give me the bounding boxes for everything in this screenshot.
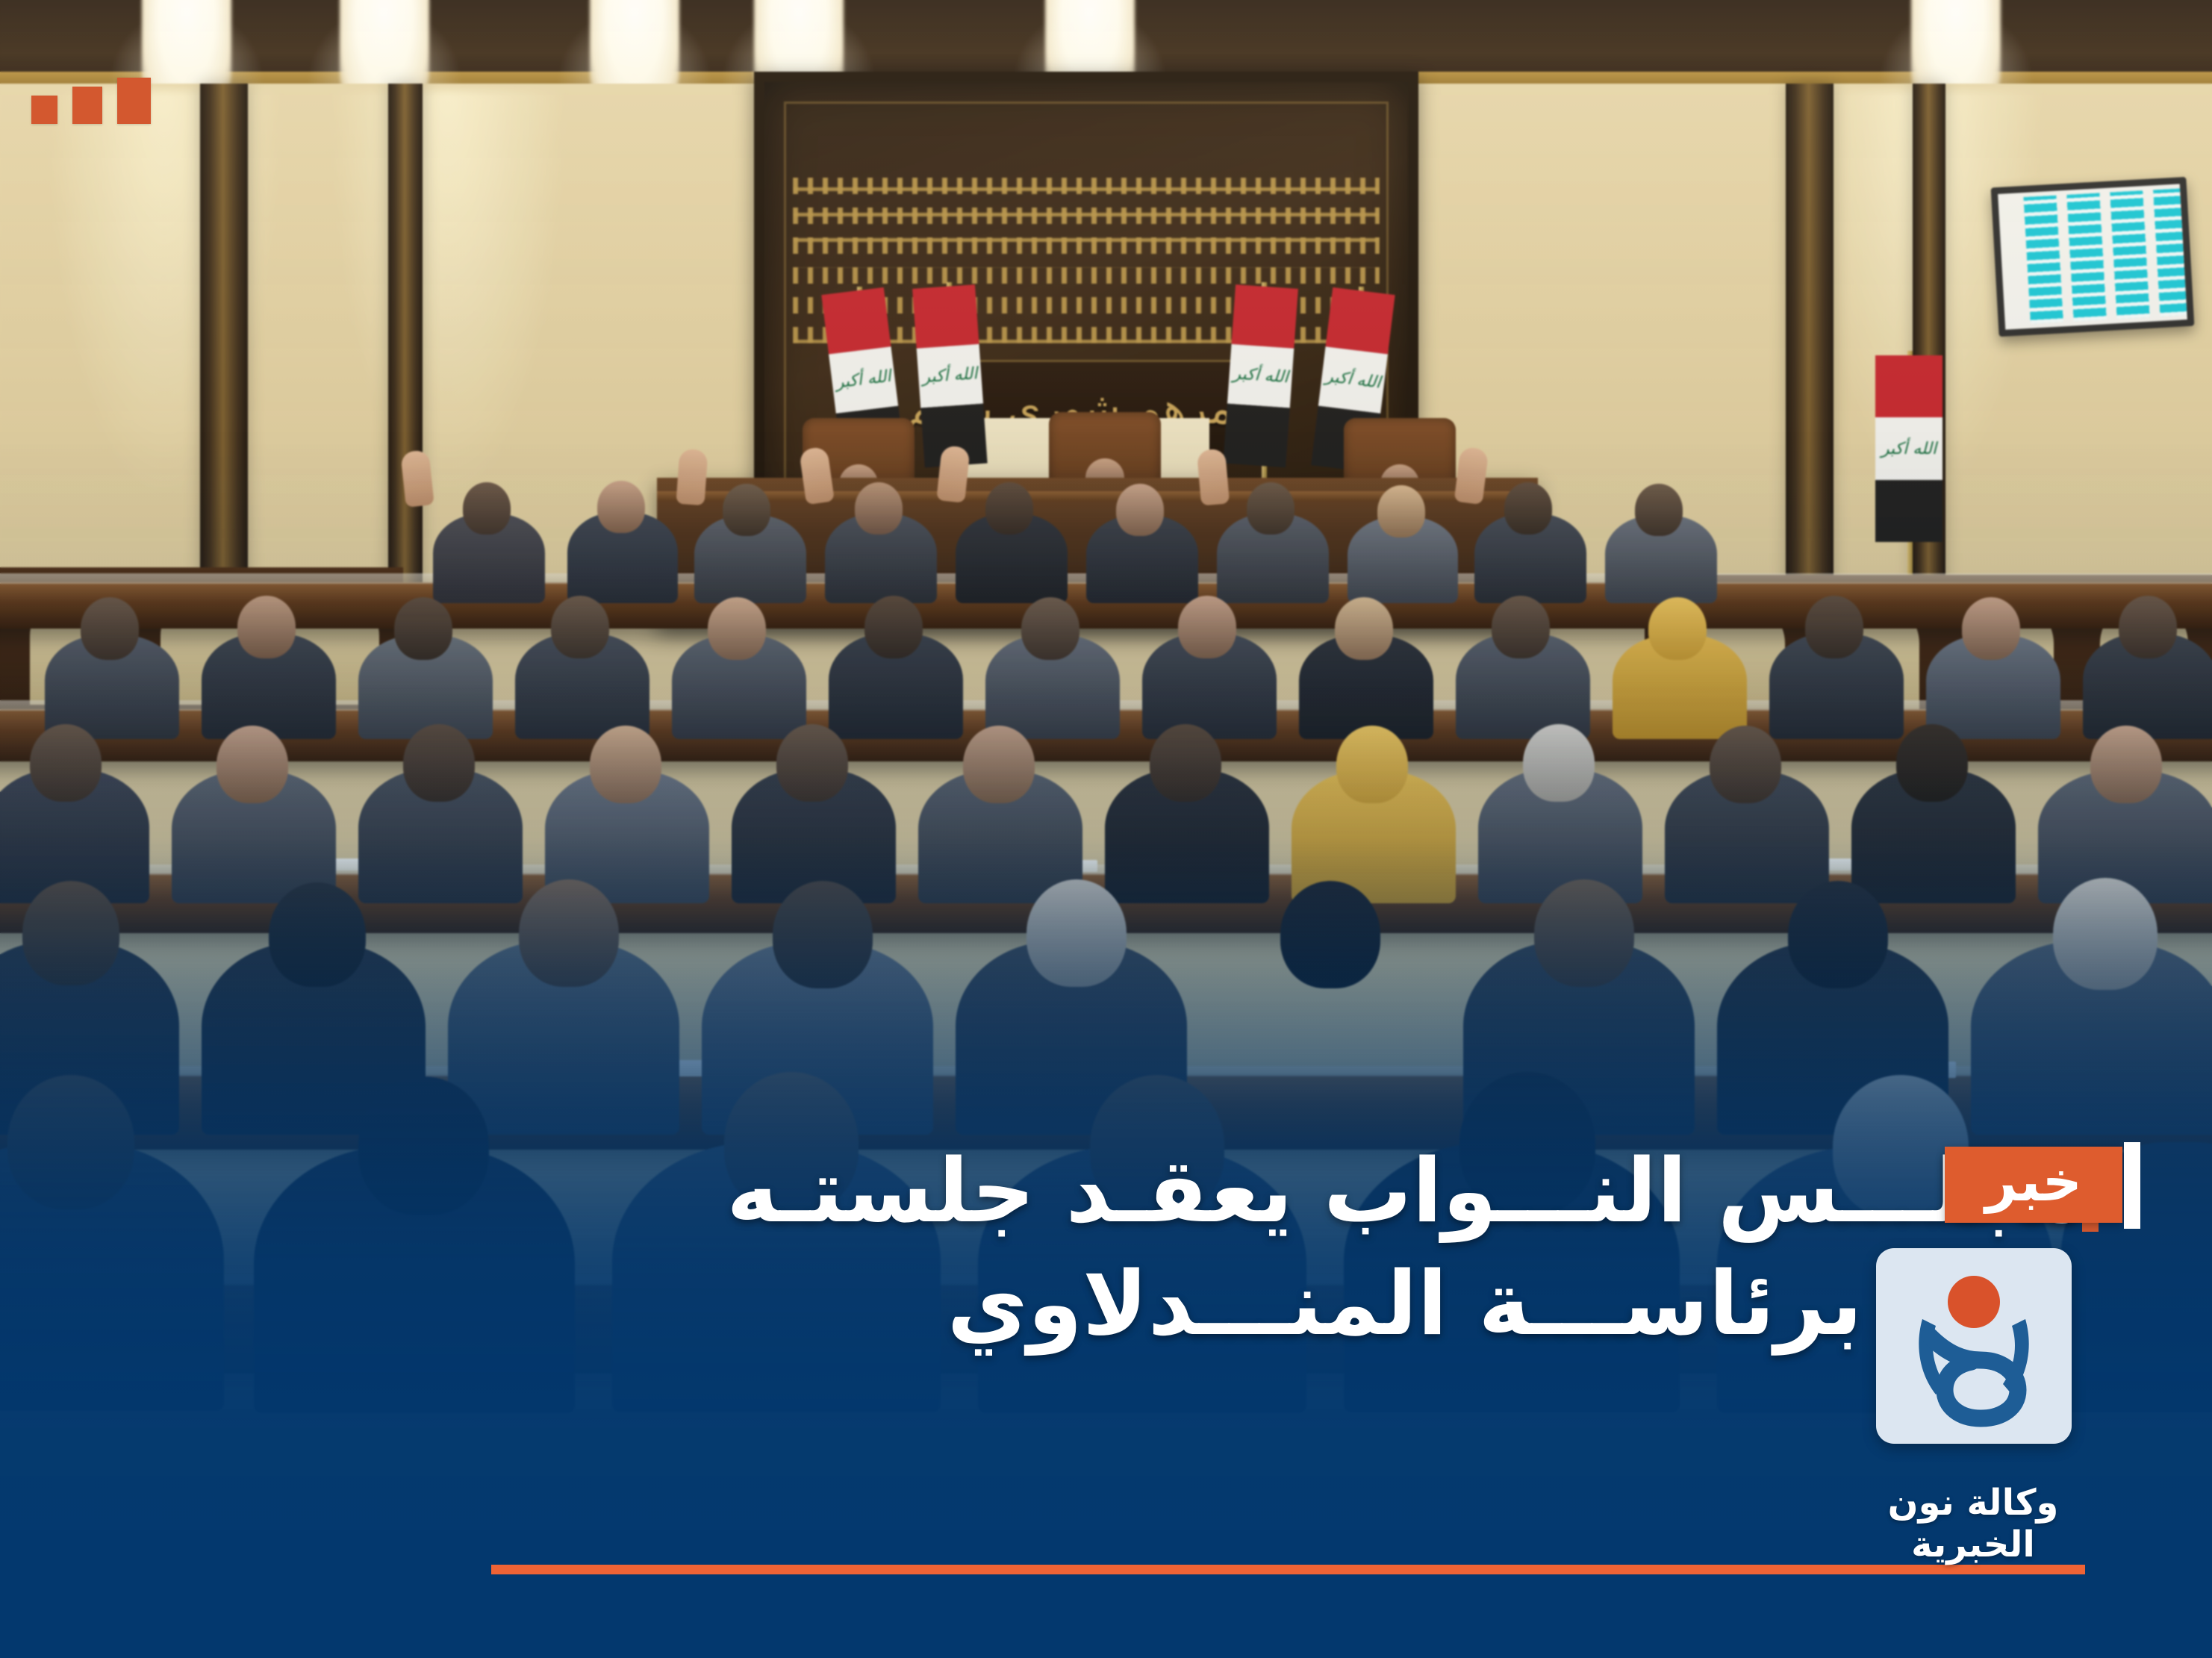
person-head-hijab	[1336, 726, 1408, 803]
brand-bar-short	[31, 96, 57, 124]
person-head	[1534, 879, 1634, 987]
person-head	[403, 724, 475, 802]
person-head	[590, 726, 661, 803]
iraq-flag-icon	[912, 284, 988, 467]
person-head	[1896, 724, 1968, 802]
person-head	[216, 726, 288, 803]
person-head	[7, 1075, 134, 1209]
display-screen-text	[2023, 188, 2187, 323]
person-head	[963, 726, 1035, 803]
headline-line-1: مجلـــس النـــواب يعقـد جلستـه	[474, 1135, 2087, 1247]
person-head	[1026, 879, 1127, 987]
person-head	[1178, 596, 1236, 658]
person-head	[708, 597, 766, 660]
brand-bar-medium	[72, 87, 102, 124]
person-head	[30, 724, 102, 802]
headline-block: مجلـــس النـــواب يعقـد جلستـه برئاســـة…	[474, 1135, 2087, 1360]
person-head	[855, 482, 903, 535]
person-head	[1504, 482, 1552, 535]
person-head	[1247, 482, 1295, 535]
person-head	[2053, 878, 2158, 990]
person-head	[1150, 724, 1221, 802]
person-head	[1116, 484, 1164, 536]
person-head	[1377, 485, 1425, 537]
person-head	[237, 596, 296, 658]
display-screen	[1991, 177, 2195, 337]
person-head	[776, 724, 848, 802]
raised-hand	[676, 449, 708, 505]
raised-hand	[936, 445, 971, 503]
person-head	[1962, 597, 2020, 660]
person-head	[773, 881, 873, 988]
person-head-hijab	[1648, 597, 1707, 660]
news-graphic-card: وأمرهم شورى بينهم	[0, 0, 2212, 1658]
person-head-hijab	[1788, 881, 1888, 988]
person-head	[1021, 597, 1079, 660]
person-head	[1635, 484, 1683, 536]
noon-logo-icon	[1876, 1248, 2072, 1444]
brand-bar-tall	[117, 78, 151, 124]
person-head-hijab	[269, 882, 366, 987]
wall-uplight	[45, 90, 284, 508]
person-head	[1805, 596, 1863, 658]
person-head-hijab	[1280, 881, 1380, 988]
news-badge-pin	[2124, 1142, 2140, 1229]
person-head	[2119, 596, 2177, 658]
person-head	[463, 482, 511, 535]
person-head	[551, 596, 609, 658]
raised-hand	[1197, 448, 1230, 505]
person-head	[1523, 724, 1595, 802]
person-head	[2090, 726, 2162, 803]
headline-underline	[491, 1565, 2085, 1574]
wall-uplight	[328, 90, 567, 508]
headline-line-2: برئاســـة المنـــدلاوي	[474, 1247, 2087, 1360]
person-head	[1492, 596, 1550, 658]
person-head	[864, 596, 923, 658]
agency-logo-card	[1876, 1248, 2072, 1444]
person-head	[597, 481, 645, 533]
person-head	[1335, 597, 1393, 660]
iraq-flag-icon	[1223, 284, 1298, 467]
news-badge: خبر	[1945, 1147, 2122, 1223]
person-head-hijab	[358, 1076, 489, 1215]
person-head	[22, 881, 119, 985]
brand-bars-mark	[31, 78, 151, 124]
person-head	[394, 597, 452, 660]
person-head	[1710, 726, 1781, 803]
person-head	[985, 482, 1033, 535]
person-head	[519, 879, 619, 987]
iraq-flag-icon	[1875, 355, 1942, 542]
agency-name: وكالة نون الخبرية	[1824, 1482, 2122, 1565]
person-head	[723, 484, 770, 536]
person-head	[81, 597, 139, 660]
